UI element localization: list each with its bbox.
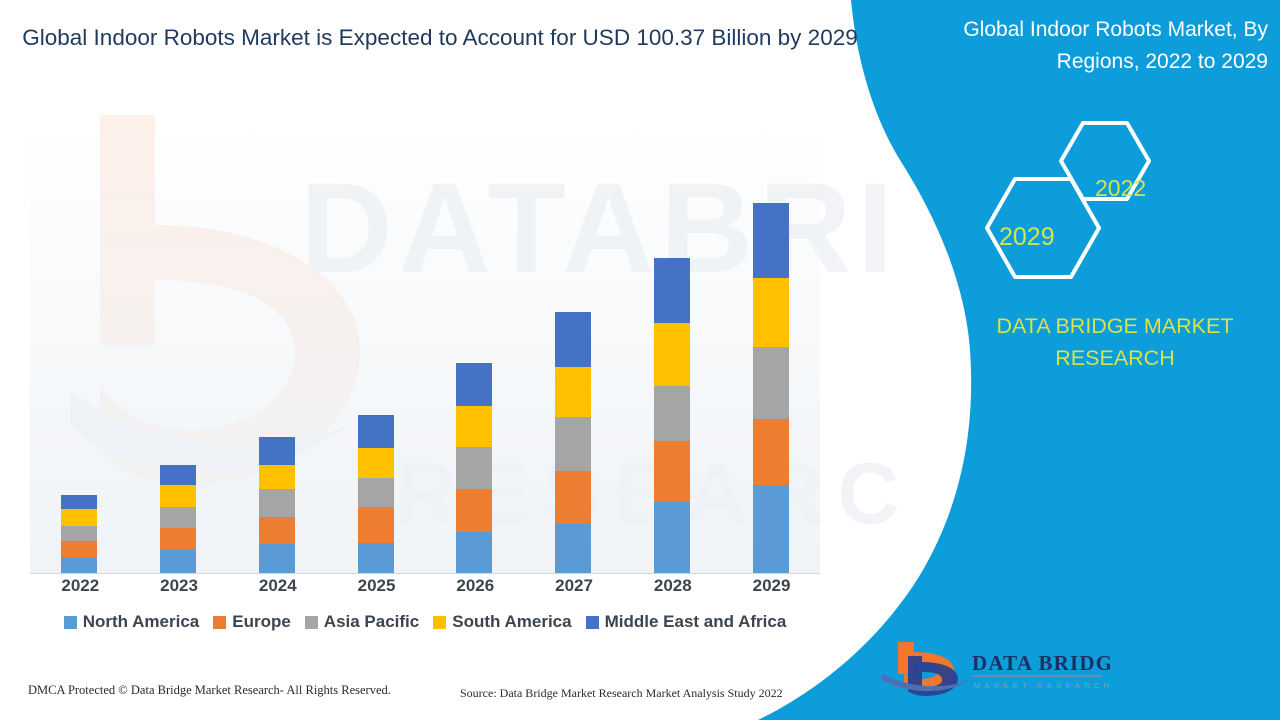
bar-segment: [555, 524, 591, 574]
bar-segment: [358, 448, 394, 478]
logo-tagline: MARKET RESEARCH: [974, 681, 1110, 690]
legend-label: North America: [83, 612, 200, 632]
hexagon-outline-icon: [975, 115, 1185, 285]
x-axis-label: 2028: [654, 576, 690, 596]
legend-swatch-icon: [213, 616, 226, 629]
bar-group: [555, 120, 591, 574]
x-axis-label: 2027: [555, 576, 591, 596]
legend-swatch-icon: [64, 616, 77, 629]
hex-label-2022: 2022: [1095, 175, 1146, 202]
bar-segment: [555, 312, 591, 367]
hexagon-badges: 2029 2022: [975, 115, 1185, 285]
bar-segment: [259, 544, 295, 574]
x-axis-label: 2025: [358, 576, 394, 596]
bar-segment: [753, 278, 789, 346]
brand-line-2: RESEARCH: [1055, 346, 1174, 370]
bar-group: [259, 120, 295, 574]
bar-segment: [160, 465, 196, 485]
bar-segment: [259, 465, 295, 489]
legend-item[interactable]: North America: [64, 612, 200, 632]
chart-legend: North AmericaEuropeAsia PacificSouth Ame…: [30, 612, 820, 632]
bar-segment: [654, 323, 690, 386]
footer-copyright: DMCA Protected © Data Bridge Market Rese…: [28, 683, 391, 698]
bar-group: [61, 120, 97, 574]
bar-segment: [456, 532, 492, 575]
chart-container: 20222023202420252026202720282029: [0, 120, 860, 580]
brand-line-1: DATA BRIDGE MARKET: [997, 314, 1234, 338]
legend-label: Asia Pacific: [324, 612, 419, 632]
plot-area: [30, 120, 820, 574]
legend-swatch-icon: [586, 616, 599, 629]
legend-item[interactable]: South America: [433, 612, 571, 632]
data-bridge-logo-icon: DATA BRIDGE MARKET RESEARCH: [880, 638, 1110, 700]
bar-group: [456, 120, 492, 574]
bar-segment: [654, 258, 690, 323]
brand-name: DATA BRIDGE MARKET RESEARCH: [955, 310, 1275, 375]
bar-segment: [654, 441, 690, 502]
bar-segment: [61, 495, 97, 510]
bar-segment: [456, 489, 492, 532]
logo-wordmark: DATA BRIDGE: [972, 651, 1110, 675]
bar-segment: [160, 485, 196, 507]
bar-segment: [160, 550, 196, 574]
legend-label: Europe: [232, 612, 291, 632]
bar-segment: [61, 541, 97, 558]
x-axis-label: 2022: [61, 576, 97, 596]
bar-group: [654, 120, 690, 574]
hex-label-2029: 2029: [999, 223, 1055, 252]
bar-segment: [358, 507, 394, 542]
x-axis-label: 2024: [259, 576, 295, 596]
bar-segment: [456, 447, 492, 490]
infographic-canvas: DATABRIDGE RESEARCH Global Indoor Robots…: [0, 0, 1280, 720]
bar-segment: [61, 509, 97, 526]
x-axis-label: 2023: [160, 576, 196, 596]
x-axis-line: [30, 573, 820, 574]
legend-label: South America: [452, 612, 571, 632]
footer-source: Source: Data Bridge Market Research Mark…: [460, 686, 783, 701]
bar-segment: [555, 471, 591, 525]
bar-segment: [555, 417, 591, 471]
bar-segment: [358, 415, 394, 448]
bar-group: [160, 120, 196, 574]
legend-swatch-icon: [305, 616, 318, 629]
bar-segment: [358, 478, 394, 508]
legend-label: Middle East and Africa: [605, 612, 787, 632]
legend-swatch-icon: [433, 616, 446, 629]
bar-segment: [358, 543, 394, 574]
panel-title: Global Indoor Robots Market, By Regions,…: [900, 14, 1268, 77]
bar-segment: [555, 367, 591, 417]
bar-segment: [456, 406, 492, 447]
legend-item[interactable]: Asia Pacific: [305, 612, 419, 632]
bar-segment: [61, 557, 97, 574]
bar-segment: [456, 363, 492, 406]
bar-segment: [259, 489, 295, 517]
legend-item[interactable]: Middle East and Africa: [586, 612, 787, 632]
bar-group: [358, 120, 394, 574]
legend-item[interactable]: Europe: [213, 612, 291, 632]
bar-segment: [654, 502, 690, 574]
bar-segment: [753, 347, 789, 419]
x-axis-label: 2026: [456, 576, 492, 596]
bar-segment: [160, 528, 196, 550]
bar-series-group: [30, 120, 820, 574]
bar-segment: [61, 526, 97, 541]
bar-segment: [753, 203, 789, 279]
x-axis-label: 2029: [753, 576, 789, 596]
bar-group: [753, 120, 789, 574]
page-title: Global Indoor Robots Market is Expected …: [20, 22, 860, 55]
bar-segment: [753, 485, 789, 574]
bar-segment: [654, 386, 690, 441]
bar-segment: [753, 419, 789, 486]
bar-segment: [160, 507, 196, 527]
x-axis-tick-labels: 20222023202420252026202720282029: [30, 576, 820, 596]
bar-segment: [259, 517, 295, 545]
bar-segment: [259, 437, 295, 465]
